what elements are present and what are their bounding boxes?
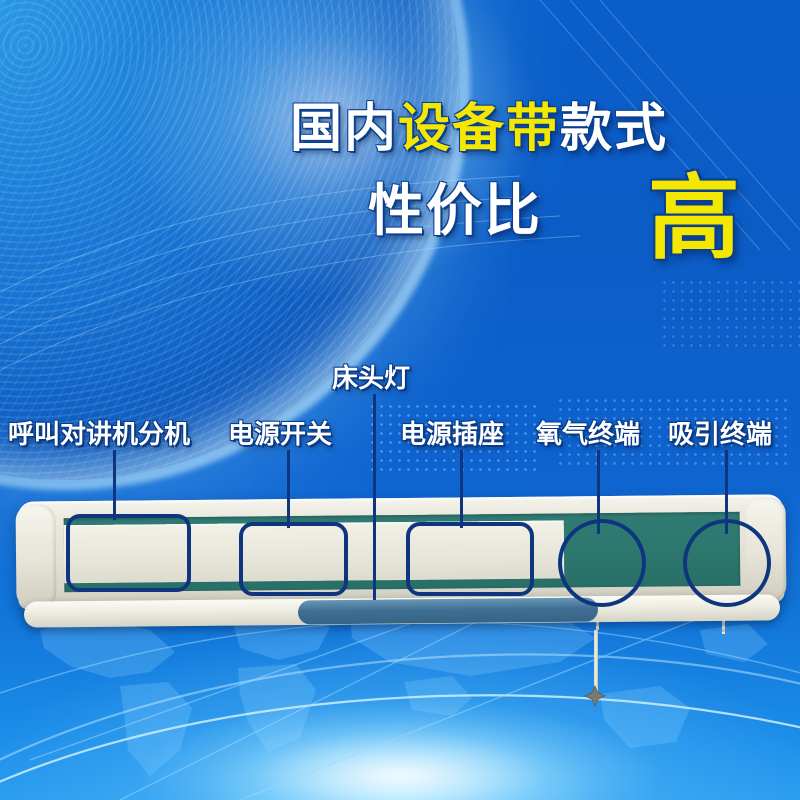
callout-label-suction-terminal: 吸引终端 bbox=[668, 414, 772, 451]
callout-label-bed-lamp: 床头灯 bbox=[332, 358, 410, 395]
pull-cord-handle-icon[interactable] bbox=[583, 685, 607, 707]
leader-line-oxygen-terminal bbox=[597, 450, 600, 534]
panel-rail-blue-section bbox=[298, 598, 598, 625]
title-segment-2: 设备带 bbox=[398, 99, 560, 159]
callout-label-power-socket: 电源插座 bbox=[400, 414, 504, 451]
panel-end-cap-left bbox=[16, 504, 57, 608]
halftone-dots-top bbox=[660, 278, 800, 348]
page-title-line1: 国内设备带款式 bbox=[290, 86, 668, 161]
callout-label-power-switch: 电源开关 bbox=[228, 414, 332, 451]
leader-line-suction-terminal bbox=[725, 450, 728, 534]
leader-line-intercom bbox=[113, 450, 116, 520]
panel-body bbox=[17, 494, 784, 609]
panel-white-face bbox=[64, 520, 565, 583]
leader-line-power-socket bbox=[460, 450, 463, 528]
page-title-accent: 高 bbox=[648, 144, 740, 277]
headwall-panel bbox=[18, 498, 784, 638]
page-title-line2: 性价比 bbox=[368, 166, 542, 247]
callout-label-oxygen-terminal: 氧气终端 bbox=[536, 414, 640, 451]
leader-line-bed-lamp bbox=[373, 394, 376, 600]
poster-canvas: 国内设备带款式 性价比 高 呼叫对讲机分机 电源开关 床头灯 电源插座 氧气终端… bbox=[0, 0, 800, 800]
callout-label-intercom: 呼叫对讲机分机 bbox=[8, 414, 190, 451]
panel-end-cap-right bbox=[745, 497, 786, 601]
leader-line-power-switch bbox=[287, 450, 290, 528]
title-segment-1: 国内 bbox=[290, 99, 398, 159]
